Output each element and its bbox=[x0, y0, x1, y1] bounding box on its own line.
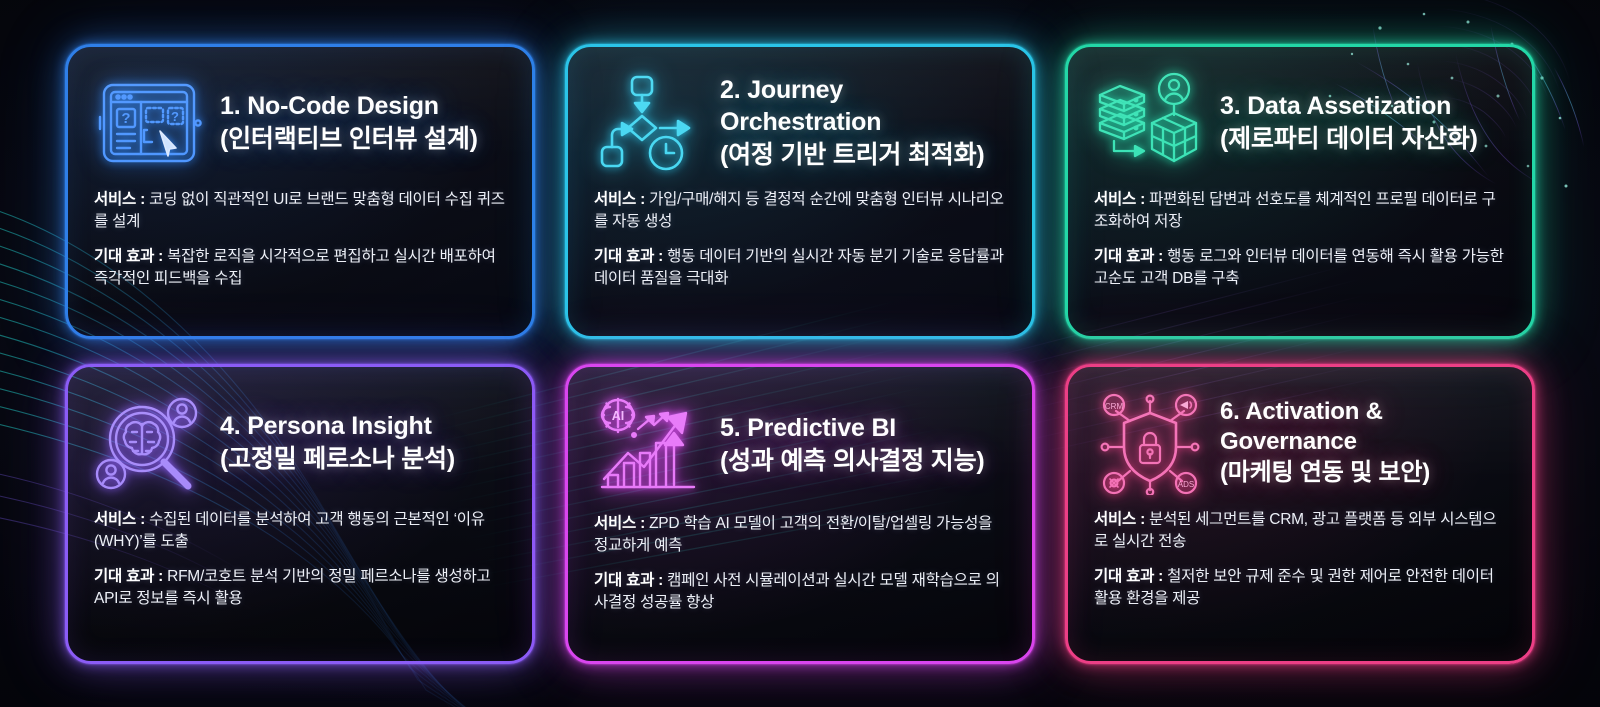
effect-label: 기대 효과 bbox=[1094, 248, 1154, 265]
service-row: 서비스 : 가입/구매/해지 등 결정적 순간에 맞춤형 인터뷰 시나리오를 자… bbox=[594, 189, 1006, 233]
service-text: 분석된 세그먼트를 CRM, 광고 플랫폼 등 외부 시스템으로 실시간 전송 bbox=[1094, 511, 1496, 550]
card-header: 2. Journey Orchestration (여정 기반 트리거 최적화) bbox=[594, 69, 1006, 177]
card-header: 4. Persona Insight (고정밀 페로소나 분석) bbox=[94, 389, 506, 497]
card-title-en: 3. Data Assetization bbox=[1220, 90, 1506, 123]
service-row: 서비스 : 분석된 세그먼트를 CRM, 광고 플랫폼 등 외부 시스템으로 실… bbox=[1094, 509, 1506, 553]
label-separator: : bbox=[136, 511, 149, 528]
service-label: 서비스 bbox=[1094, 191, 1136, 208]
feature-card-persona-insight[interactable]: 4. Persona Insight (고정밀 페로소나 분석) 서비스 : 수… bbox=[65, 364, 535, 664]
service-text: 가입/구매/해지 등 결정적 순간에 맞춤형 인터뷰 시나리오를 자동 생성 bbox=[594, 191, 1004, 230]
card-body: 서비스 : 코딩 없이 직관적인 UI로 브랜드 맞춤형 데이터 수집 퀴즈를 … bbox=[94, 189, 506, 290]
card-title-ko: (인터랙티브 인터뷰 설계) bbox=[220, 123, 506, 156]
svg-text:?: ? bbox=[171, 109, 179, 124]
card-header: CRM ADS 6. Activation & Governance bbox=[1094, 389, 1506, 497]
card-title-ko: (고정밀 페로소나 분석) bbox=[220, 443, 506, 476]
svg-text:AI: AI bbox=[612, 409, 625, 423]
label-separator: : bbox=[1154, 568, 1167, 585]
card-header: ? ? 1. No-Code Design (인터랙티브 인터뷰 설계) bbox=[94, 69, 506, 177]
svg-text:CRM: CRM bbox=[1105, 402, 1124, 411]
svg-text:ADS: ADS bbox=[1178, 480, 1194, 489]
service-label: 서비스 bbox=[94, 191, 136, 208]
card-body: 서비스 : ZPD 학습 AI 모델이 고객의 전환/이탈/업셀링 가능성을 정… bbox=[594, 513, 1006, 614]
label-separator: : bbox=[1136, 191, 1149, 208]
card-title: 1. No-Code Design (인터랙티브 인터뷰 설계) bbox=[220, 90, 506, 155]
feature-card-activation-governance[interactable]: CRM ADS 6. Activation & Governance bbox=[1065, 364, 1535, 664]
data-assetization-server-cube-icon bbox=[1094, 71, 1206, 175]
card-title-en: 1. No-Code Design bbox=[220, 90, 506, 123]
feature-card-predictive-bi[interactable]: AI bbox=[565, 364, 1035, 664]
service-label: 서비스 bbox=[594, 515, 636, 532]
card-body: 서비스 : 분석된 세그먼트를 CRM, 광고 플랫폼 등 외부 시스템으로 실… bbox=[1094, 509, 1506, 610]
label-separator: : bbox=[654, 572, 667, 589]
svg-text:?: ? bbox=[121, 110, 130, 127]
card-title: 3. Data Assetization (제로파티 데이터 자산화) bbox=[1220, 90, 1506, 155]
card-title: 4. Persona Insight (고정밀 페로소나 분석) bbox=[220, 410, 506, 475]
effect-row: 기대 효과 : 행동 로그와 인터뷰 데이터를 연동해 즉시 활용 가능한 고순… bbox=[1094, 246, 1506, 290]
label-separator: : bbox=[136, 191, 149, 208]
label-separator: : bbox=[636, 191, 649, 208]
service-text: 파편화된 답변과 선호도를 체계적인 프로필 데이터로 구조화하여 저장 bbox=[1094, 191, 1496, 230]
card-title: 5. Predictive BI (성과 예측 의사결정 지능) bbox=[720, 412, 1006, 477]
feature-card-no-code-design[interactable]: ? ? 1. No-Code Design (인터랙티브 인터뷰 설계) 서비스… bbox=[65, 44, 535, 339]
card-header: 3. Data Assetization (제로파티 데이터 자산화) bbox=[1094, 69, 1506, 177]
card-title-en: 6. Activation & Governance bbox=[1220, 397, 1506, 457]
no-code-design-tablet-icon: ? ? bbox=[94, 71, 206, 175]
card-title-ko: (성과 예측 의사결정 지능) bbox=[720, 445, 1006, 478]
card-body: 서비스 : 가입/구매/해지 등 결정적 순간에 맞춤형 인터뷰 시나리오를 자… bbox=[594, 189, 1006, 290]
label-separator: : bbox=[654, 248, 667, 265]
effect-row: 기대 효과 : 캠페인 사전 시뮬레이션과 실시간 모델 재학습으로 의사결정 … bbox=[594, 570, 1006, 614]
label-separator: : bbox=[154, 248, 167, 265]
service-text: 수집된 데이터를 분석하여 고객 행동의 근본적인 ‘이유(WHY)’를 도출 bbox=[94, 511, 485, 550]
effect-label: 기대 효과 bbox=[1094, 568, 1154, 585]
card-title-en: 5. Predictive BI bbox=[720, 412, 1006, 445]
card-title-en: 2. Journey Orchestration bbox=[720, 74, 1006, 139]
service-label: 서비스 bbox=[594, 191, 636, 208]
service-row: 서비스 : 수집된 데이터를 분석하여 고객 행동의 근본적인 ‘이유(WHY)… bbox=[94, 509, 506, 553]
card-header: AI bbox=[594, 389, 1006, 501]
card-title-ko: (마케팅 연동 및 보안) bbox=[1220, 458, 1506, 488]
feature-card-data-assetization[interactable]: 3. Data Assetization (제로파티 데이터 자산화) 서비스 … bbox=[1065, 44, 1535, 339]
effect-label: 기대 효과 bbox=[594, 572, 654, 589]
effect-row: 기대 효과 : RFM/코호트 분석 기반의 정밀 페르소나를 생성하고 API… bbox=[94, 566, 506, 610]
card-title-ko: (제로파티 데이터 자산화) bbox=[1220, 123, 1506, 156]
service-row: 서비스 : ZPD 학습 AI 모델이 고객의 전환/이탈/업셀링 가능성을 정… bbox=[594, 513, 1006, 557]
persona-insight-brain-magnifier-icon bbox=[94, 391, 206, 495]
service-text: 코딩 없이 직관적인 UI로 브랜드 맞춤형 데이터 수집 퀴즈를 설계 bbox=[94, 191, 505, 230]
service-label: 서비스 bbox=[94, 511, 136, 528]
label-separator: : bbox=[1154, 248, 1167, 265]
feature-card-journey-orchestration[interactable]: 2. Journey Orchestration (여정 기반 트리거 최적화)… bbox=[565, 44, 1035, 339]
effect-label: 기대 효과 bbox=[94, 568, 154, 585]
label-separator: : bbox=[636, 515, 649, 532]
effect-row: 기대 효과 : 복잡한 로직을 시각적으로 편집하고 실시간 배포하여 즉각적인… bbox=[94, 246, 506, 290]
card-body: 서비스 : 파편화된 답변과 선호도를 체계적인 프로필 데이터로 구조화하여 … bbox=[1094, 189, 1506, 290]
journey-orchestration-flowchart-icon bbox=[594, 71, 706, 175]
effect-label: 기대 효과 bbox=[94, 248, 154, 265]
effect-row: 기대 효과 : 철저한 보안 규제 준수 및 권한 제어로 안전한 데이터 활용… bbox=[1094, 566, 1506, 610]
effect-label: 기대 효과 bbox=[594, 248, 654, 265]
activation-governance-shield-lock-icon: CRM ADS bbox=[1094, 391, 1206, 495]
card-title-ko: (여정 기반 트리거 최적화) bbox=[720, 139, 1006, 172]
service-row: 서비스 : 파편화된 답변과 선호도를 체계적인 프로필 데이터로 구조화하여 … bbox=[1094, 189, 1506, 233]
card-title-en: 4. Persona Insight bbox=[220, 410, 506, 443]
service-row: 서비스 : 코딩 없이 직관적인 UI로 브랜드 맞춤형 데이터 수집 퀴즈를 … bbox=[94, 189, 506, 233]
label-separator: : bbox=[154, 568, 167, 585]
card-title: 2. Journey Orchestration (여정 기반 트리거 최적화) bbox=[720, 74, 1006, 172]
feature-card-grid: ? ? 1. No-Code Design (인터랙티브 인터뷰 설계) 서비스… bbox=[0, 0, 1600, 707]
service-text: ZPD 학습 AI 모델이 고객의 전환/이탈/업셀링 가능성을 정교하게 예측 bbox=[594, 515, 992, 554]
predictive-bi-ai-growth-chart-icon: AI bbox=[594, 393, 706, 497]
card-body: 서비스 : 수집된 데이터를 분석하여 고객 행동의 근본적인 ‘이유(WHY)… bbox=[94, 509, 506, 610]
label-separator: : bbox=[1136, 511, 1149, 528]
card-title: 6. Activation & Governance (마케팅 연동 및 보안) bbox=[1220, 397, 1506, 488]
service-label: 서비스 bbox=[1094, 511, 1136, 528]
effect-row: 기대 효과 : 행동 데이터 기반의 실시간 자동 분기 기술로 응답률과 데이… bbox=[594, 246, 1006, 290]
